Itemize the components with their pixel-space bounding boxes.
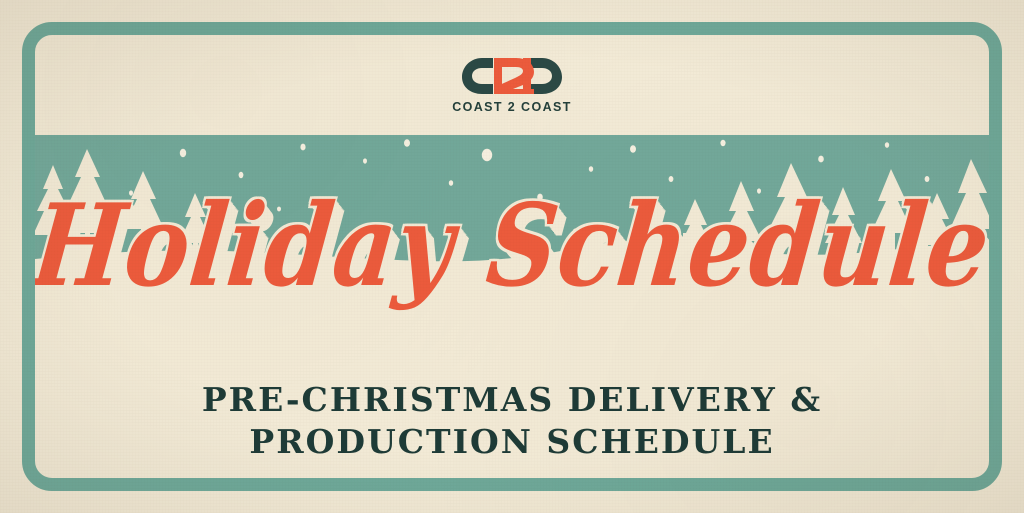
holiday-schedule-poster: COAST 2 COAST Holiday Schedule PRE-CHRIS… (0, 0, 1024, 513)
poster-frame-border (22, 22, 1002, 491)
